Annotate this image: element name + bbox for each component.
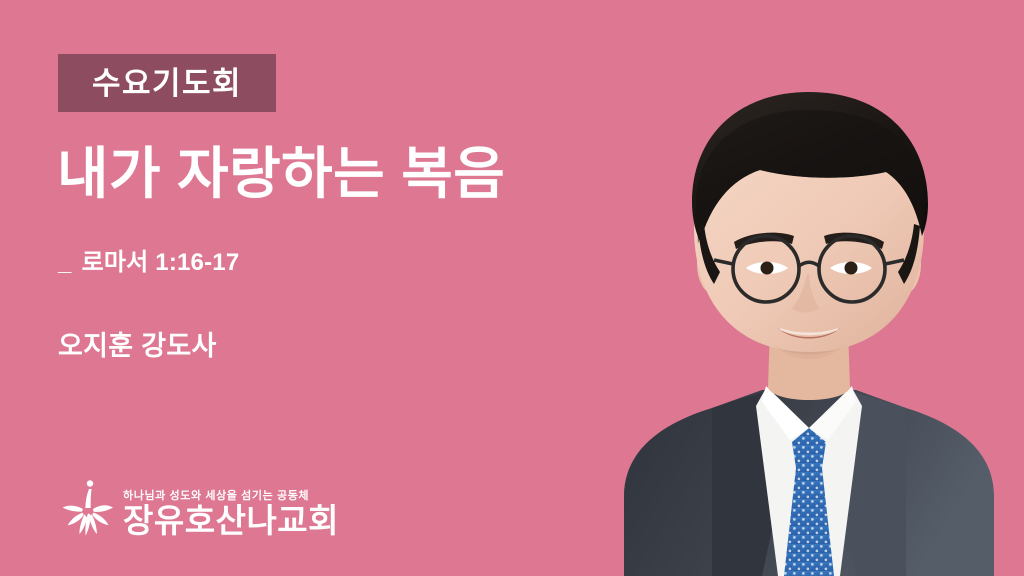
category-badge-label: 수요기도회 bbox=[92, 68, 242, 99]
church-name: 장유호산나교회 bbox=[123, 504, 339, 539]
scripture-prefix-dash: _ bbox=[58, 249, 72, 278]
scripture-reference-text: 로마서 1:16-17 bbox=[82, 249, 240, 278]
scripture-reference: _ 로마서 1:16-17 bbox=[58, 249, 239, 278]
hosanna-flower-emblem-icon bbox=[58, 478, 114, 540]
church-logo: 하나님과 성도와 세상을 섬기는 공동체 장유호산나교회 bbox=[58, 478, 339, 541]
church-tagline: 하나님과 성도와 세상을 섬기는 공동체 bbox=[123, 491, 309, 502]
church-logo-text: 하나님과 성도와 세상을 섬기는 공동체 장유호산나교회 bbox=[123, 491, 339, 541]
sermon-title-card: 수요기도회 내가 자랑하는 복음 _ 로마서 1:16-17 오지훈 강도사 bbox=[0, 0, 1024, 576]
sermon-title: 내가 자랑하는 복음 bbox=[57, 142, 505, 206]
speaker-portrait-photo bbox=[594, 76, 1024, 576]
speaker-name: 오지훈 강도사 bbox=[58, 330, 217, 362]
category-badge: 수요기도회 bbox=[58, 54, 276, 112]
